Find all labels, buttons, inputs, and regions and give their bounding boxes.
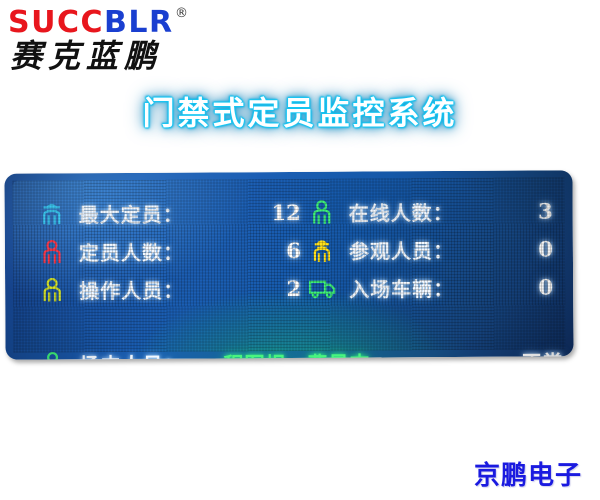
led-label-vehicles: 入场车辆： — [349, 272, 454, 302]
led-row-visitors: 参观人员： 0 — [305, 229, 567, 269]
led-row-onsite-personnel: 场内人员： 程军坦 曹景杰 正常 — [35, 343, 567, 359]
company-logo: SUCCBLR ® 赛克蓝鹏 — [8, 6, 238, 74]
led-label-online-count: 在线人数： — [349, 196, 454, 226]
led-screen-area: 最大定员： 12 — [12, 177, 565, 352]
footer-company-name: 京鹏电子 — [474, 455, 582, 492]
led-value-visitors: 0 — [538, 236, 553, 261]
logo-latin-blue: BLR — [104, 5, 174, 40]
led-label-max-capacity: 最大定员： — [79, 198, 184, 228]
led-value-vehicles: 0 — [538, 274, 553, 299]
page-title: 门禁式定员监控系统 — [0, 88, 600, 134]
led-value-operators: 2 — [286, 275, 301, 300]
led-value-max-capacity: 12 — [271, 199, 300, 224]
led-label-onsite-personnel: 场内人员： — [80, 348, 185, 360]
led-label-operators: 操作人员： — [79, 274, 184, 304]
led-row-max-capacity: 最大定员： 12 — [35, 193, 305, 233]
led-label-visitors: 参观人员： — [349, 234, 454, 264]
logo-latin-red: SUCC — [8, 5, 104, 40]
person-icon — [305, 196, 339, 228]
person-helmet-icon — [35, 197, 69, 229]
led-row-vehicles: 入场车辆： 0 — [305, 267, 567, 307]
led-display-panel: 最大定员： 12 — [4, 170, 573, 359]
person-helmet-icon — [305, 234, 339, 266]
led-column-right: 在线人数： 3 — [305, 191, 568, 307]
person-icon — [35, 235, 69, 267]
led-row-staff-quota: 定员人数： 6 — [35, 231, 305, 271]
led-status-badge: 正常 — [521, 346, 563, 360]
logo-chinese-text: 赛克蓝鹏 — [10, 37, 162, 75]
led-row-online-count: 在线人数： 3 — [305, 191, 567, 231]
logo-latin-text: SUCCBLR — [8, 6, 174, 40]
person-icon — [35, 273, 69, 305]
led-value-online-count: 3 — [538, 198, 553, 223]
led-value-onsite-names: 程军坦 曹景杰 — [224, 347, 371, 360]
truck-icon — [305, 272, 339, 304]
led-value-staff-quota: 6 — [286, 237, 301, 262]
registered-trademark-icon: ® — [175, 6, 188, 21]
poster-root: SUCCBLR ® 赛克蓝鹏 门禁式定员监控系统 — [0, 0, 600, 500]
led-label-staff-quota: 定员人数： — [79, 236, 184, 266]
led-row-operators: 操作人员： 2 — [35, 269, 305, 309]
led-column-left: 最大定员： 12 — [35, 193, 306, 309]
person-icon — [35, 347, 69, 359]
